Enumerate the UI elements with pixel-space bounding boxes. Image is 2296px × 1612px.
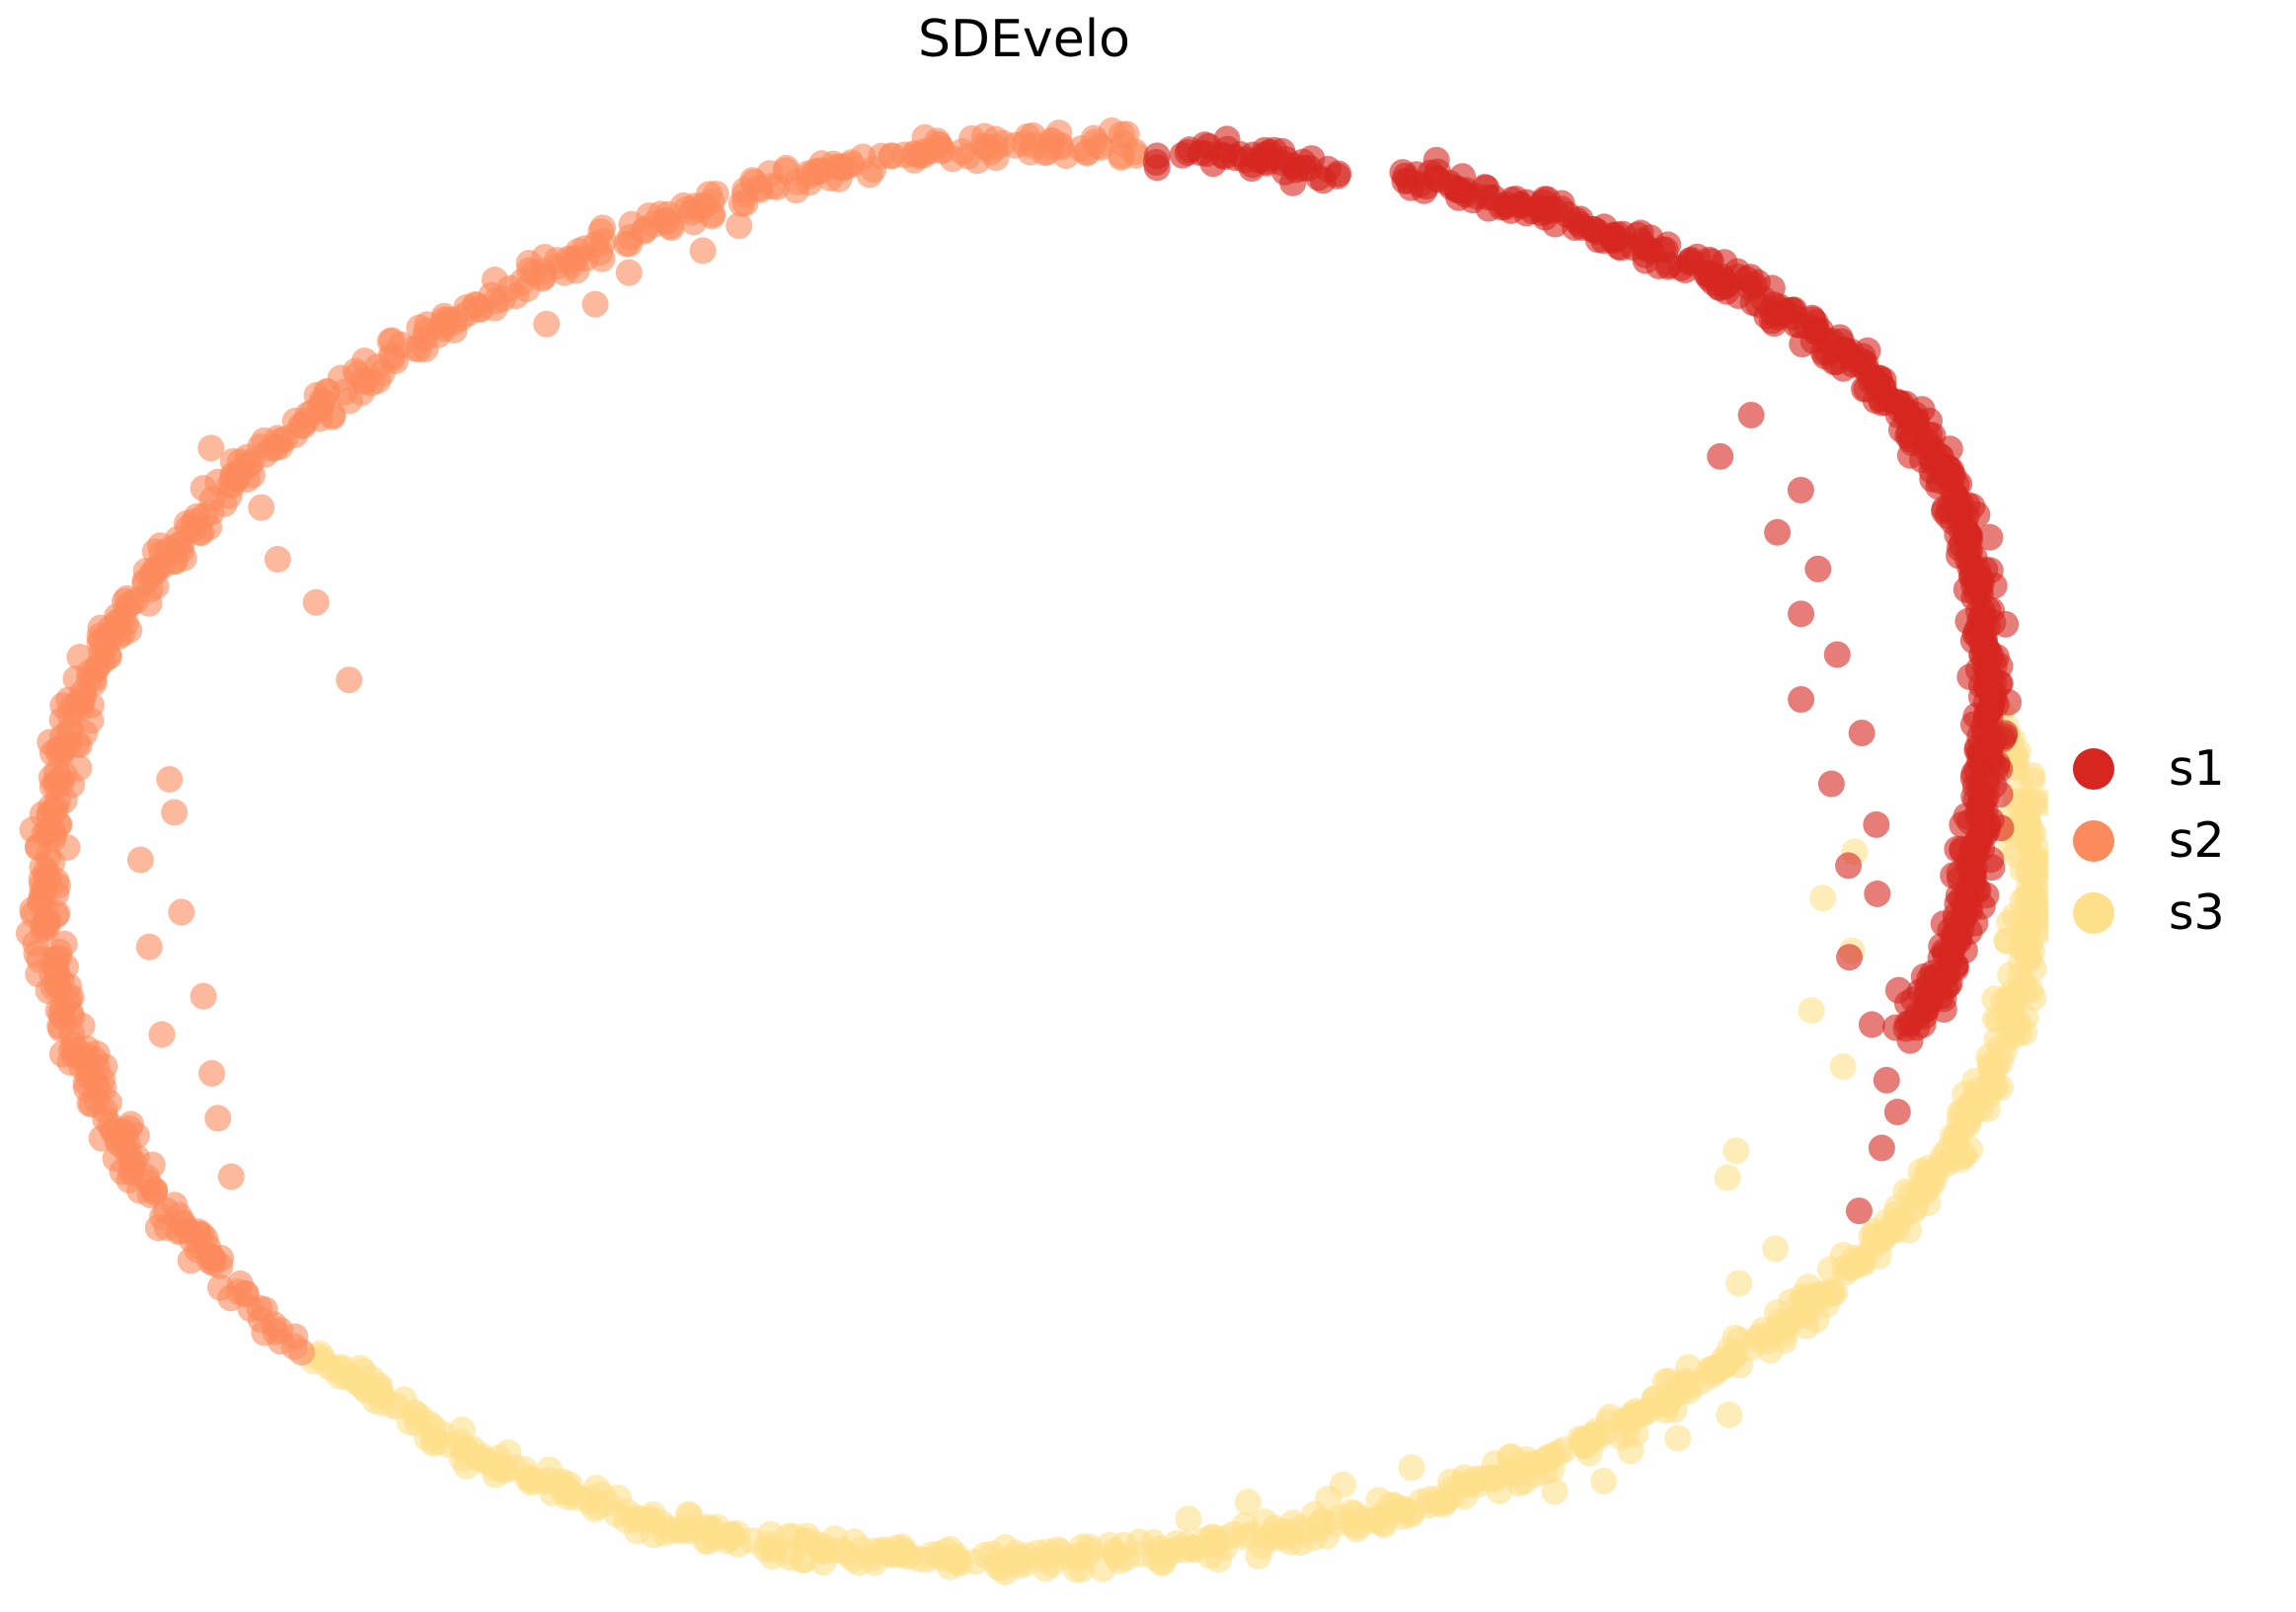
legend-item-s2[interactable]: s2 bbox=[2069, 805, 2276, 877]
scatter-points-layer bbox=[16, 117, 2048, 1585]
scatter-svg bbox=[0, 0, 2048, 1612]
legend-label-s1: s1 bbox=[2169, 744, 2225, 793]
legend-marker-s3 bbox=[2073, 892, 2114, 934]
series-s1-density bbox=[1144, 125, 2016, 1053]
figure-canvas: SDEvelo s1 s2 s3 bbox=[0, 0, 2296, 1612]
legend-marker-s2 bbox=[2073, 820, 2114, 862]
legend-item-s1[interactable]: s1 bbox=[2069, 732, 2276, 805]
series-s3-density bbox=[304, 714, 2048, 1585]
legend-label-s3: s3 bbox=[2169, 888, 2225, 937]
series-s3 bbox=[300, 699, 2048, 1582]
legend-item-s3[interactable]: s3 bbox=[2069, 877, 2276, 949]
legend: s1 s2 s3 bbox=[2069, 732, 2276, 949]
series-s1 bbox=[1143, 136, 2022, 1225]
scatter-plot-area bbox=[0, 0, 2048, 1612]
legend-marker-s1 bbox=[2073, 748, 2114, 790]
legend-label-s2: s2 bbox=[2169, 816, 2225, 865]
series-s2 bbox=[16, 117, 1148, 1360]
